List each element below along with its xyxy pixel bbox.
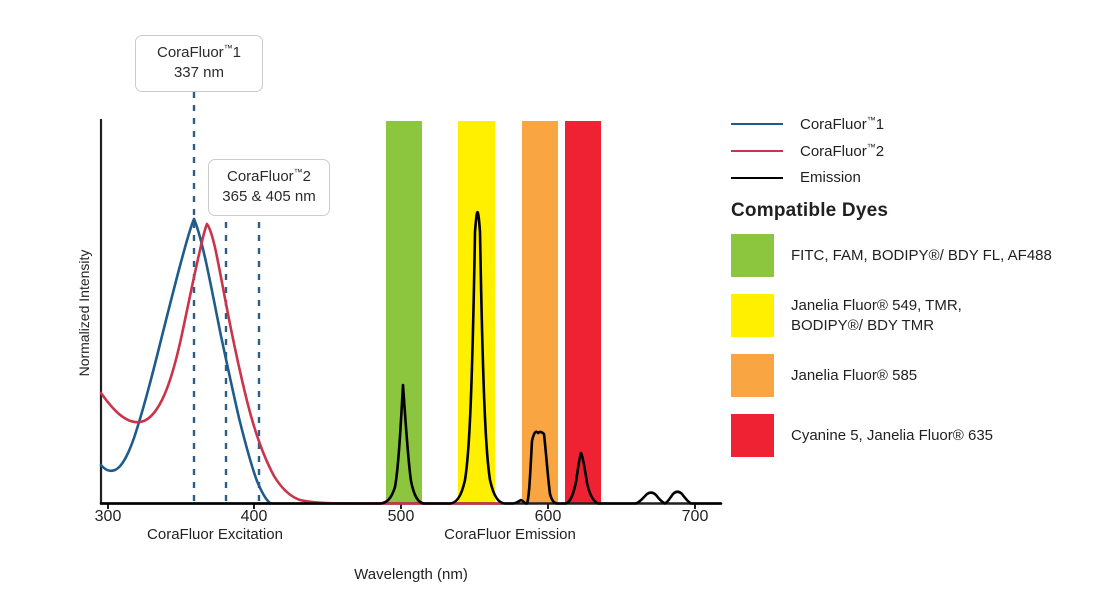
callout2-tm: ™ [294, 167, 303, 177]
legend-item-corafluor1: CoraFluor™1 [731, 110, 1101, 137]
series-corafluor2-curve [101, 224, 500, 504]
dye-swatch-orange-icon [731, 354, 774, 397]
legend-line-blue-icon [731, 123, 783, 125]
dye-swatch-yellow-icon [731, 294, 774, 337]
legend-item-corafluor2: CoraFluor™2 [731, 137, 1101, 164]
dye-label-green: FITC, FAM, BODIPY®/ BDY FL, AF488 [791, 246, 1052, 266]
xtick-700: 700 [665, 508, 725, 526]
region-label-excitation: CoraFluor Excitation [120, 526, 310, 543]
spectra-figure: CoraFluor™1 337 nm CoraFluor™2 365 & 405… [0, 0, 1110, 612]
callout1-num: 1 [233, 44, 241, 61]
legend-label-corafluor1: CoraFluor™1 [800, 115, 884, 133]
dye-band-yellow [458, 121, 495, 503]
callout-corafluor1: CoraFluor™1 337 nm [135, 35, 263, 92]
dye-label-orange: Janelia Fluor® 585 [791, 366, 917, 386]
series-corafluor1-curve [101, 219, 270, 503]
legend-line-black-icon [731, 177, 783, 179]
legend-label-corafluor2: CoraFluor™2 [800, 142, 884, 160]
callout-corafluor2: CoraFluor™2 365 & 405 nm [208, 159, 330, 216]
dye-label-yellow: Janelia Fluor® 549, TMR, BODIPY®/ BDY TM… [791, 296, 962, 336]
dye-band-green [386, 121, 422, 503]
dye-item-orange: Janelia Fluor® 585 [731, 354, 1106, 397]
callout1-value: 337 nm [148, 63, 250, 83]
xtick-300: 300 [78, 508, 138, 526]
legend-label-emission: Emission [800, 169, 861, 186]
compatible-dyes-title: Compatible Dyes [731, 200, 888, 222]
callout1-name: CoraFluor [157, 44, 224, 61]
y-axis-title: Normalized Intensity [76, 218, 92, 408]
dye-item-yellow: Janelia Fluor® 549, TMR, BODIPY®/ BDY TM… [731, 294, 1106, 337]
dye-swatch-red-icon [731, 414, 774, 457]
callout2-num: 2 [303, 168, 311, 185]
x-axis-title: Wavelength (nm) [286, 566, 536, 583]
dye-item-red: Cyanine 5, Janelia Fluor® 635 [731, 414, 1106, 457]
dye-item-green: FITC, FAM, BODIPY®/ BDY FL, AF488 [731, 234, 1106, 277]
excitation-vlines [194, 92, 259, 503]
series-legend: CoraFluor™1 CoraFluor™2 Emission [731, 110, 1101, 191]
callout1-tm: ™ [224, 43, 233, 53]
region-label-emission: CoraFluor Emission [415, 526, 605, 543]
legend-line-red-icon [731, 150, 783, 152]
dye-bands [386, 121, 601, 503]
dye-swatch-green-icon [731, 234, 774, 277]
compatible-dyes-list: FITC, FAM, BODIPY®/ BDY FL, AF488 Janeli… [731, 234, 1106, 474]
dye-band-orange [522, 121, 558, 503]
callout2-name: CoraFluor [227, 168, 294, 185]
dye-label-red: Cyanine 5, Janelia Fluor® 635 [791, 426, 993, 446]
legend-item-emission: Emission [731, 164, 1101, 191]
callout2-value: 365 & 405 nm [221, 187, 317, 207]
xtick-400: 400 [224, 508, 284, 526]
xtick-600: 600 [518, 508, 578, 526]
dye-band-red [565, 121, 601, 503]
xtick-500: 500 [371, 508, 431, 526]
